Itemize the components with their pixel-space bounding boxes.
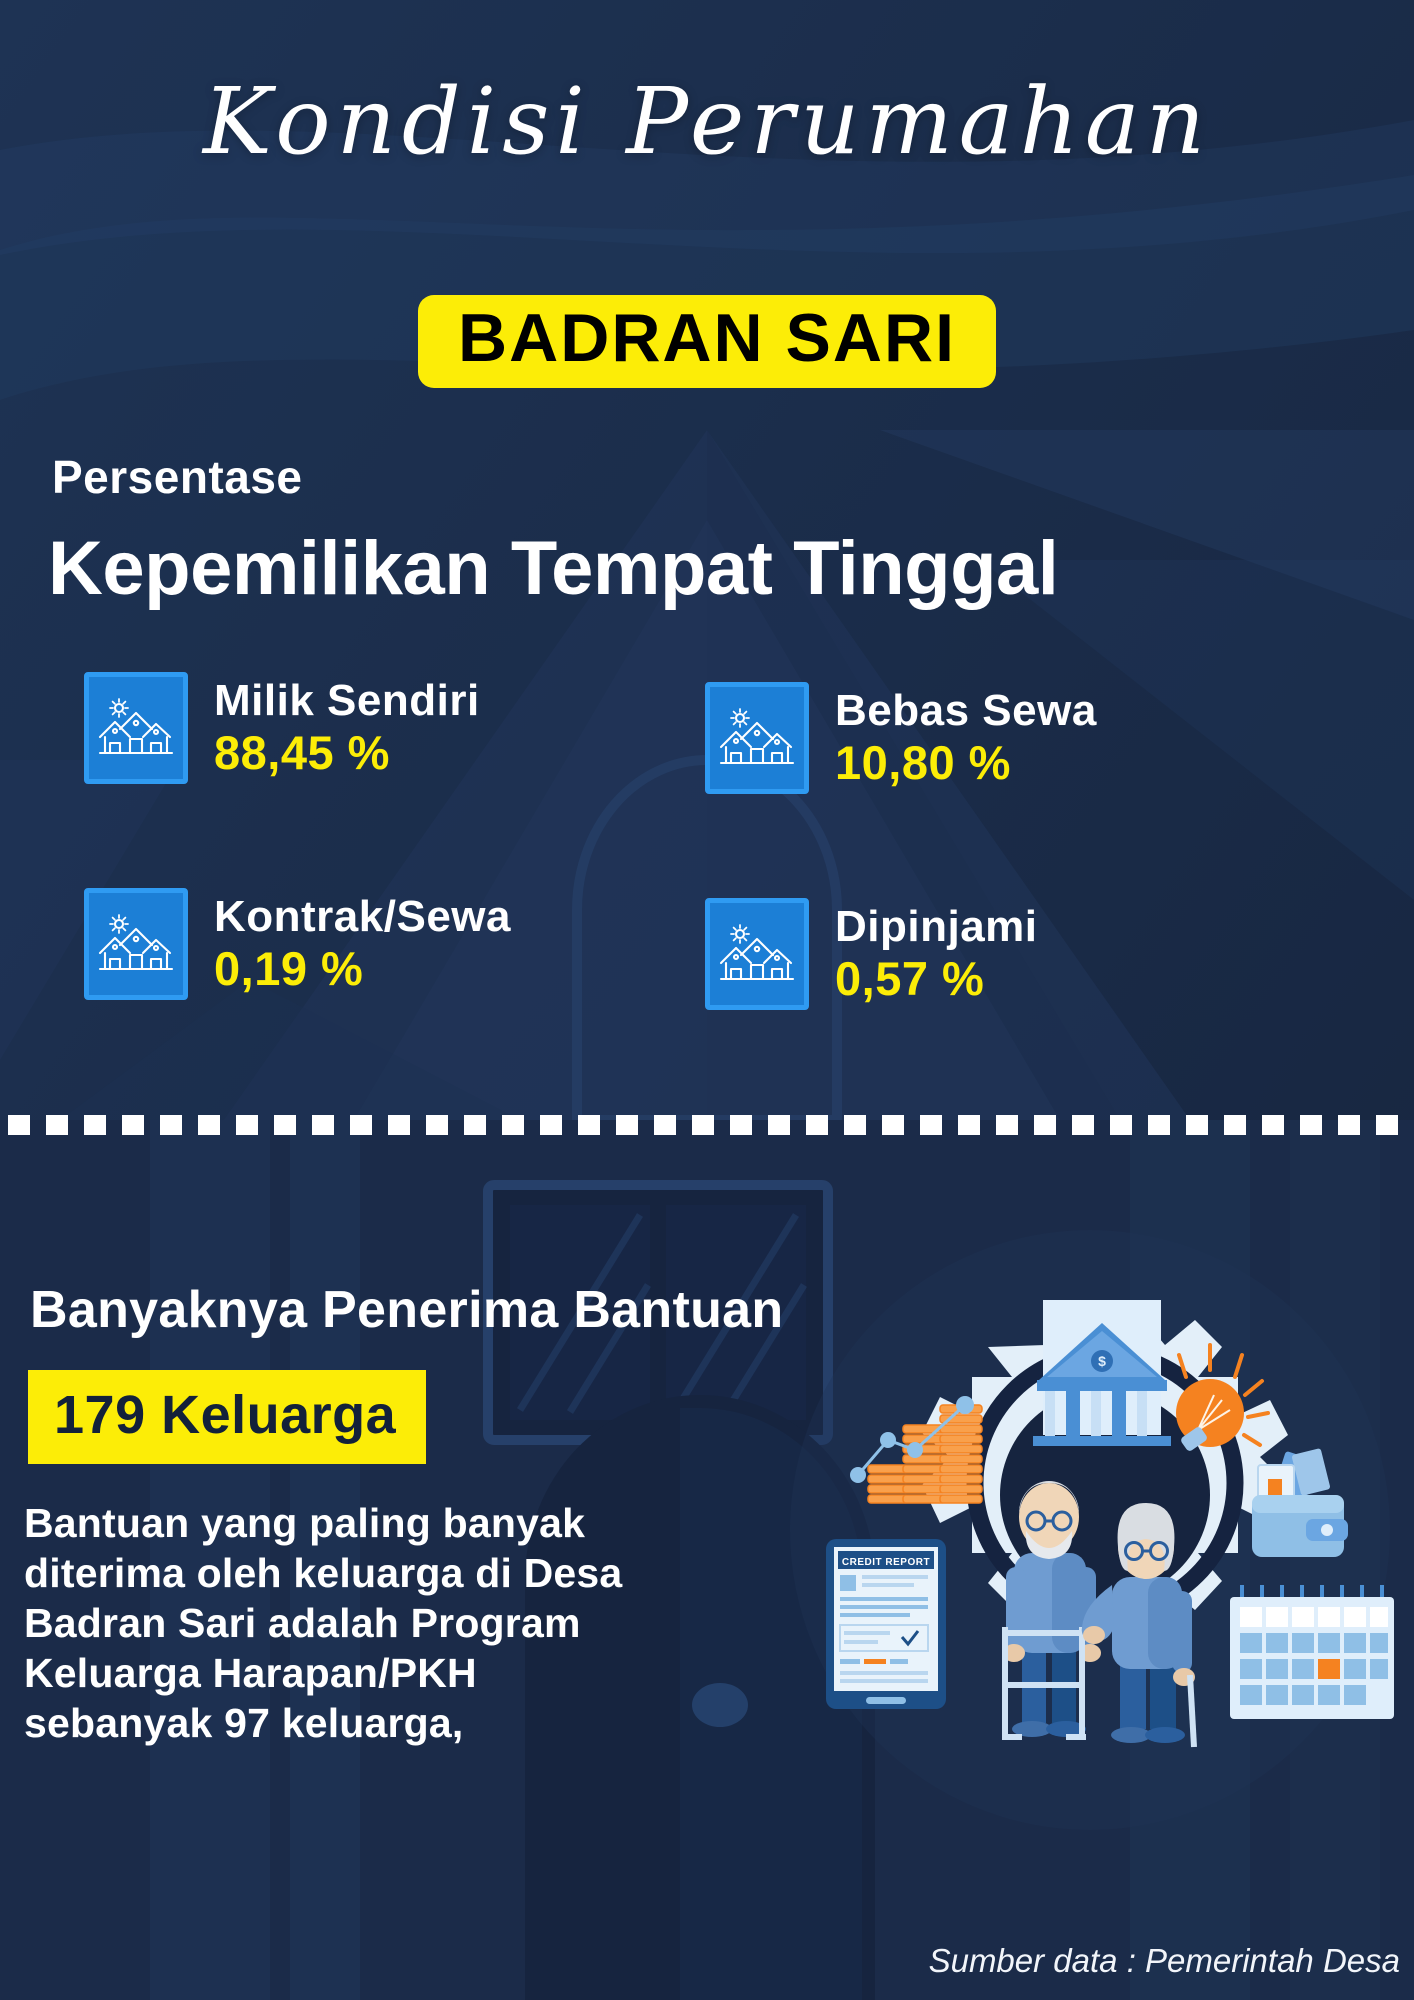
stat-dipinjami: Dipinjami 0,57 % <box>705 898 1038 1010</box>
stat-value: 10,80 % <box>835 738 1097 788</box>
stat-milik-sendiri: Milik Sendiri 88,45 % <box>84 672 480 784</box>
illustration-svg: $ <box>790 1285 1400 1755</box>
aid-paragraph-line: sebanyak 97 keluarga, <box>24 1698 724 1748</box>
aid-paragraph-line: diterima oleh keluarga di Desa <box>24 1548 724 1598</box>
aid-count-badge: 179 Keluarga <box>28 1370 426 1464</box>
page-title: Kondisi Perumahan <box>0 68 1414 175</box>
dashed-divider <box>8 1115 1406 1135</box>
aid-paragraph-line: Keluarga Harapan/PKH <box>24 1648 724 1698</box>
village-name-badge: BADRAN SARI <box>418 295 996 388</box>
stat-bebas-sewa: Bebas Sewa 10,80 % <box>705 682 1097 794</box>
calendar-icon <box>1230 1585 1394 1719</box>
aid-paragraph-line: Bantuan yang paling banyak <box>24 1498 724 1548</box>
stat-value: 0,57 % <box>835 954 1038 1004</box>
houses-sun-icon <box>705 898 809 1010</box>
stat-kontrak-sewa: Kontrak/Sewa 0,19 % <box>84 888 511 1000</box>
stat-text-block: Dipinjami 0,57 % <box>835 904 1038 1004</box>
stat-text-block: Kontrak/Sewa 0,19 % <box>214 894 511 994</box>
houses-sun-icon <box>705 682 809 794</box>
houses-sun-icon-glyph <box>719 707 795 769</box>
stat-text-block: Milik Sendiri 88,45 % <box>214 678 480 778</box>
houses-sun-icon-glyph <box>98 697 174 759</box>
wallet-money-icon <box>1252 1448 1348 1557</box>
aid-paragraph-line: Badran Sari adalah Program <box>24 1598 724 1648</box>
credit-report-label: CREDIT REPORT <box>842 1557 930 1568</box>
aid-paragraph: Bantuan yang paling banyak diterima oleh… <box>24 1498 724 1748</box>
houses-sun-icon-glyph <box>98 913 174 975</box>
infographic-poster: Kondisi Perumahan BADRAN SARI Persentase… <box>0 0 1414 2000</box>
source-note: Sumber data : Pemerintah Desa <box>929 1942 1400 1980</box>
cane-icon <box>1190 1675 1194 1747</box>
stat-label: Milik Sendiri <box>214 678 480 725</box>
tablet-credit-report-icon: CREDIT REPORT <box>826 1539 946 1709</box>
houses-sun-icon <box>84 672 188 784</box>
ownership-heading: Kepemilikan Tempat Tinggal <box>48 525 1058 612</box>
calendar-highlight-day <box>1318 1659 1340 1679</box>
ownership-eyebrow: Persentase <box>52 450 303 504</box>
bank-icon: $ <box>1033 1300 1171 1446</box>
stat-label: Bebas Sewa <box>835 688 1097 735</box>
stat-label: Dipinjami <box>835 904 1038 951</box>
aid-heading: Banyaknya Penerima Bantuan <box>30 1280 783 1340</box>
stat-value: 88,45 % <box>214 728 480 778</box>
stat-value: 0,19 % <box>214 944 511 994</box>
houses-sun-icon <box>84 888 188 1000</box>
elderly-finance-illustration: $ <box>790 1285 1400 1755</box>
stat-text-block: Bebas Sewa 10,80 % <box>835 688 1097 788</box>
stat-label: Kontrak/Sewa <box>214 894 511 941</box>
bank-dollar-symbol: $ <box>1098 1353 1106 1369</box>
houses-sun-icon-glyph <box>719 923 795 985</box>
